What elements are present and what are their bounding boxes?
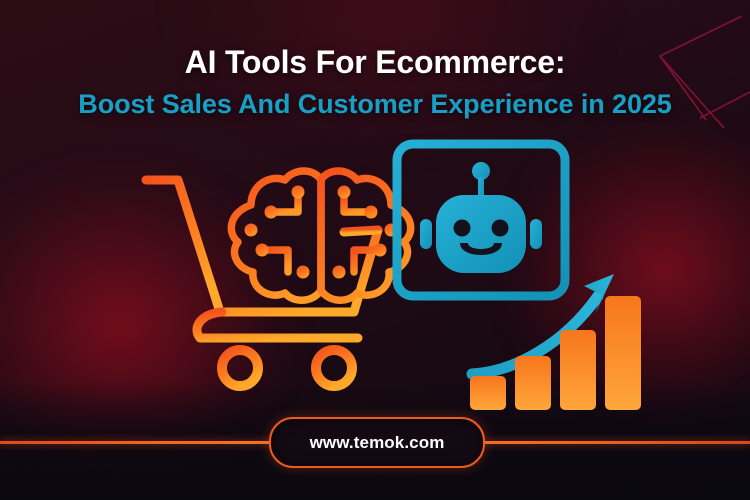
- page-title: AI Tools For Ecommerce:: [0, 44, 750, 81]
- chart-bar-2: [515, 356, 551, 410]
- robot-head: [436, 195, 526, 273]
- cart-wheel-right: [316, 350, 352, 386]
- cart-wheel-left: [222, 350, 258, 386]
- growth-bar-chart-icon: [462, 268, 654, 410]
- cart-handle: [146, 180, 220, 312]
- website-url-text: www.temok.com: [310, 433, 445, 453]
- chart-bar-1: [470, 376, 506, 410]
- robot-ear-right: [530, 219, 542, 249]
- robot-ear-left: [420, 219, 432, 249]
- ai-shopping-cart-icon: [122, 152, 384, 390]
- page-subtitle: Boost Sales And Customer Experience in 2…: [0, 89, 750, 120]
- promo-banner: AI Tools For Ecommerce: Boost Sales And …: [0, 0, 750, 500]
- circuit-brain: [231, 171, 410, 300]
- chart-bar-3: [560, 330, 596, 410]
- robot-eye-left: [454, 220, 471, 237]
- website-url-badge[interactable]: www.temok.com: [269, 417, 485, 468]
- chart-bar-4: [605, 296, 641, 410]
- chart-bars: [470, 296, 641, 410]
- robot-eye-right: [492, 220, 509, 237]
